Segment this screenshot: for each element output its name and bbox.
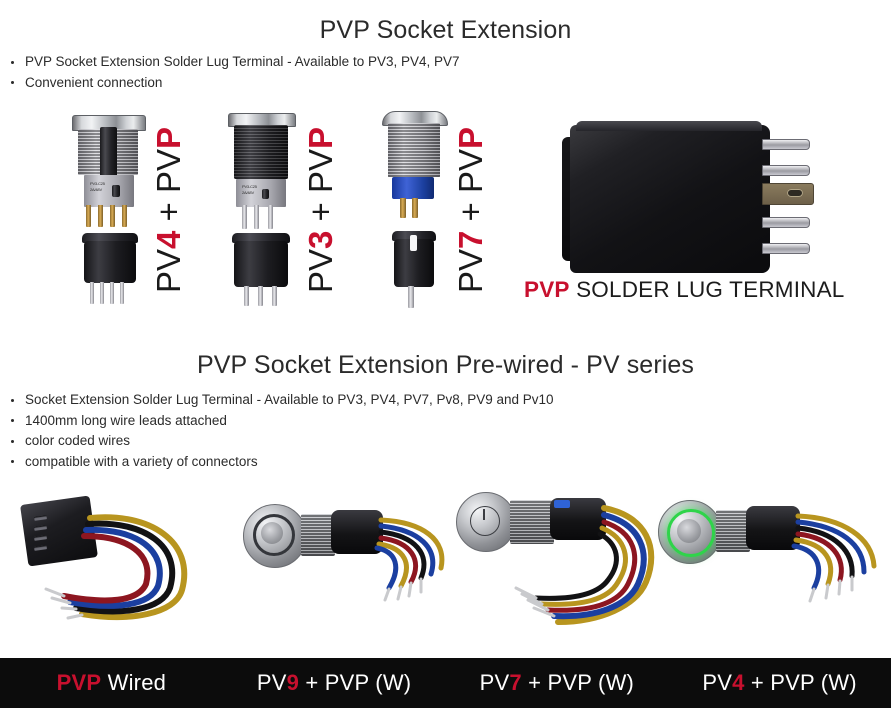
photo-pvp-wired: [10, 482, 235, 654]
combo-label-prefix: PV: [452, 249, 489, 293]
combo-label-suffix: P: [302, 127, 339, 149]
lug-caption-accent: PVP: [524, 277, 570, 302]
switch-body-text-line1: PV3-C25: [90, 182, 105, 187]
list-item: color coded wires: [0, 431, 554, 452]
footer-item-pvp-wired: PVP Wired: [0, 670, 223, 696]
footer-item-label: Wired: [101, 670, 166, 695]
product-combo-pv4: PV3-C25 2A/48V PV4 + PVP: [60, 105, 180, 330]
list-item-label: Convenient connection: [25, 75, 162, 90]
footer-item-prefix: PV: [702, 670, 732, 695]
list-item-label: color coded wires: [25, 433, 130, 448]
product-info-page: PVP Socket Extension PVP Socket Extensio…: [0, 0, 891, 713]
footer-item-number: 9: [287, 670, 299, 695]
footer-item-number: 4: [732, 670, 744, 695]
combo-label-number: 4: [150, 231, 187, 249]
list-item: Socket Extension Solder Lug Terminal - A…: [0, 390, 554, 411]
footer-item-label: + PVP (W): [745, 670, 857, 695]
combo-label-suffix: P: [150, 127, 187, 149]
lug-caption: PVP SOLDER LUG TERMINAL: [524, 277, 884, 303]
lug-pin: [762, 217, 810, 228]
wire-bundle: [10, 482, 235, 654]
list-item-label: PVP Socket Extension Solder Lug Terminal…: [25, 54, 460, 69]
lug-pin: [762, 243, 810, 254]
list-item: 1400mm long wire leads attached: [0, 411, 554, 432]
lug-hole: [787, 189, 803, 197]
list-item-label: compatible with a variety of connectors: [25, 454, 258, 469]
combo-label-pv7: PV7 + PVP: [454, 127, 487, 293]
solder-lug-terminal-illustration: [562, 115, 862, 285]
lug-pin: [762, 139, 810, 150]
footer-item-prefix: PV: [257, 670, 287, 695]
list-item: PVP Socket Extension Solder Lug Terminal…: [0, 52, 460, 73]
wire-bundle: [648, 482, 891, 654]
combo-label-pv3: PV3 + PVP: [304, 127, 337, 293]
switch-body-text-line2: 2A/48V: [90, 188, 102, 193]
footer-item-pv9: PV9 + PVP (W): [223, 670, 446, 696]
lug-top-edge: [576, 121, 762, 131]
product-combo-pv3: PV3-C25 2A/48V PV3 + PVP: [218, 105, 338, 330]
footer-item-pv7: PV7 + PVP (W): [446, 670, 669, 696]
wire-bundle: [450, 482, 665, 654]
bullet-dot-icon: [11, 460, 14, 463]
list-item: Convenient connection: [0, 73, 460, 94]
page-title-section-2: PVP Socket Extension Pre-wired - PV seri…: [0, 352, 891, 380]
combo-label-mid: + PV: [452, 149, 489, 231]
feature-list-section-2: Socket Extension Solder Lug Terminal - A…: [0, 390, 554, 472]
wire-bundle: [235, 482, 455, 654]
product-image-row-bottom: [0, 482, 891, 654]
list-item: compatible with a variety of connectors: [0, 452, 554, 473]
combo-label-number: 3: [302, 231, 339, 249]
switch-body-text-line2-b: 2A/48V: [242, 191, 254, 196]
lug-body: [570, 125, 770, 273]
footer-item-number: 7: [509, 670, 521, 695]
combo-label-suffix: P: [452, 127, 489, 149]
footer-item-accent: PVP: [57, 670, 102, 695]
bullet-dot-icon: [11, 419, 14, 422]
switch-body-text-line1-b: PV3-C25: [242, 185, 257, 190]
page-title-section-1: PVP Socket Extension: [0, 17, 891, 45]
photo-pv9-pvp-w: [235, 482, 455, 654]
footer-item-pv4: PV4 + PVP (W): [668, 670, 891, 696]
bullet-dot-icon: [11, 440, 14, 443]
combo-label-prefix: PV: [302, 249, 339, 293]
bullet-dot-icon: [11, 61, 14, 64]
combo-label-mid: + PV: [150, 149, 187, 231]
list-item-label: Socket Extension Solder Lug Terminal - A…: [25, 392, 554, 407]
lug-caption-rest: SOLDER LUG TERMINAL: [570, 277, 845, 302]
bullet-dot-icon: [11, 81, 14, 84]
bullet-dot-icon: [11, 399, 14, 402]
footer-item-label: + PVP (W): [522, 670, 634, 695]
product-combo-pv7: PV7 + PVP: [370, 105, 490, 330]
combo-label-number: 7: [452, 231, 489, 249]
footer-item-prefix: PV: [480, 670, 510, 695]
combo-label-pv4: PV4 + PVP: [152, 127, 185, 293]
combo-label-mid: + PV: [302, 149, 339, 231]
footer-label-bar: PVP Wired PV9 + PVP (W) PV7 + PVP (W) PV…: [0, 658, 891, 708]
list-item-label: 1400mm long wire leads attached: [25, 413, 227, 428]
combo-label-prefix: PV: [150, 249, 187, 293]
photo-pv7-pvp-w: [450, 482, 665, 654]
lug-flat-tab: [762, 183, 814, 205]
footer-item-label: + PVP (W): [299, 670, 411, 695]
feature-list-section-1: PVP Socket Extension Solder Lug Terminal…: [0, 52, 460, 93]
photo-pv4-pvp-w: [648, 482, 891, 654]
lug-pin: [762, 165, 810, 176]
